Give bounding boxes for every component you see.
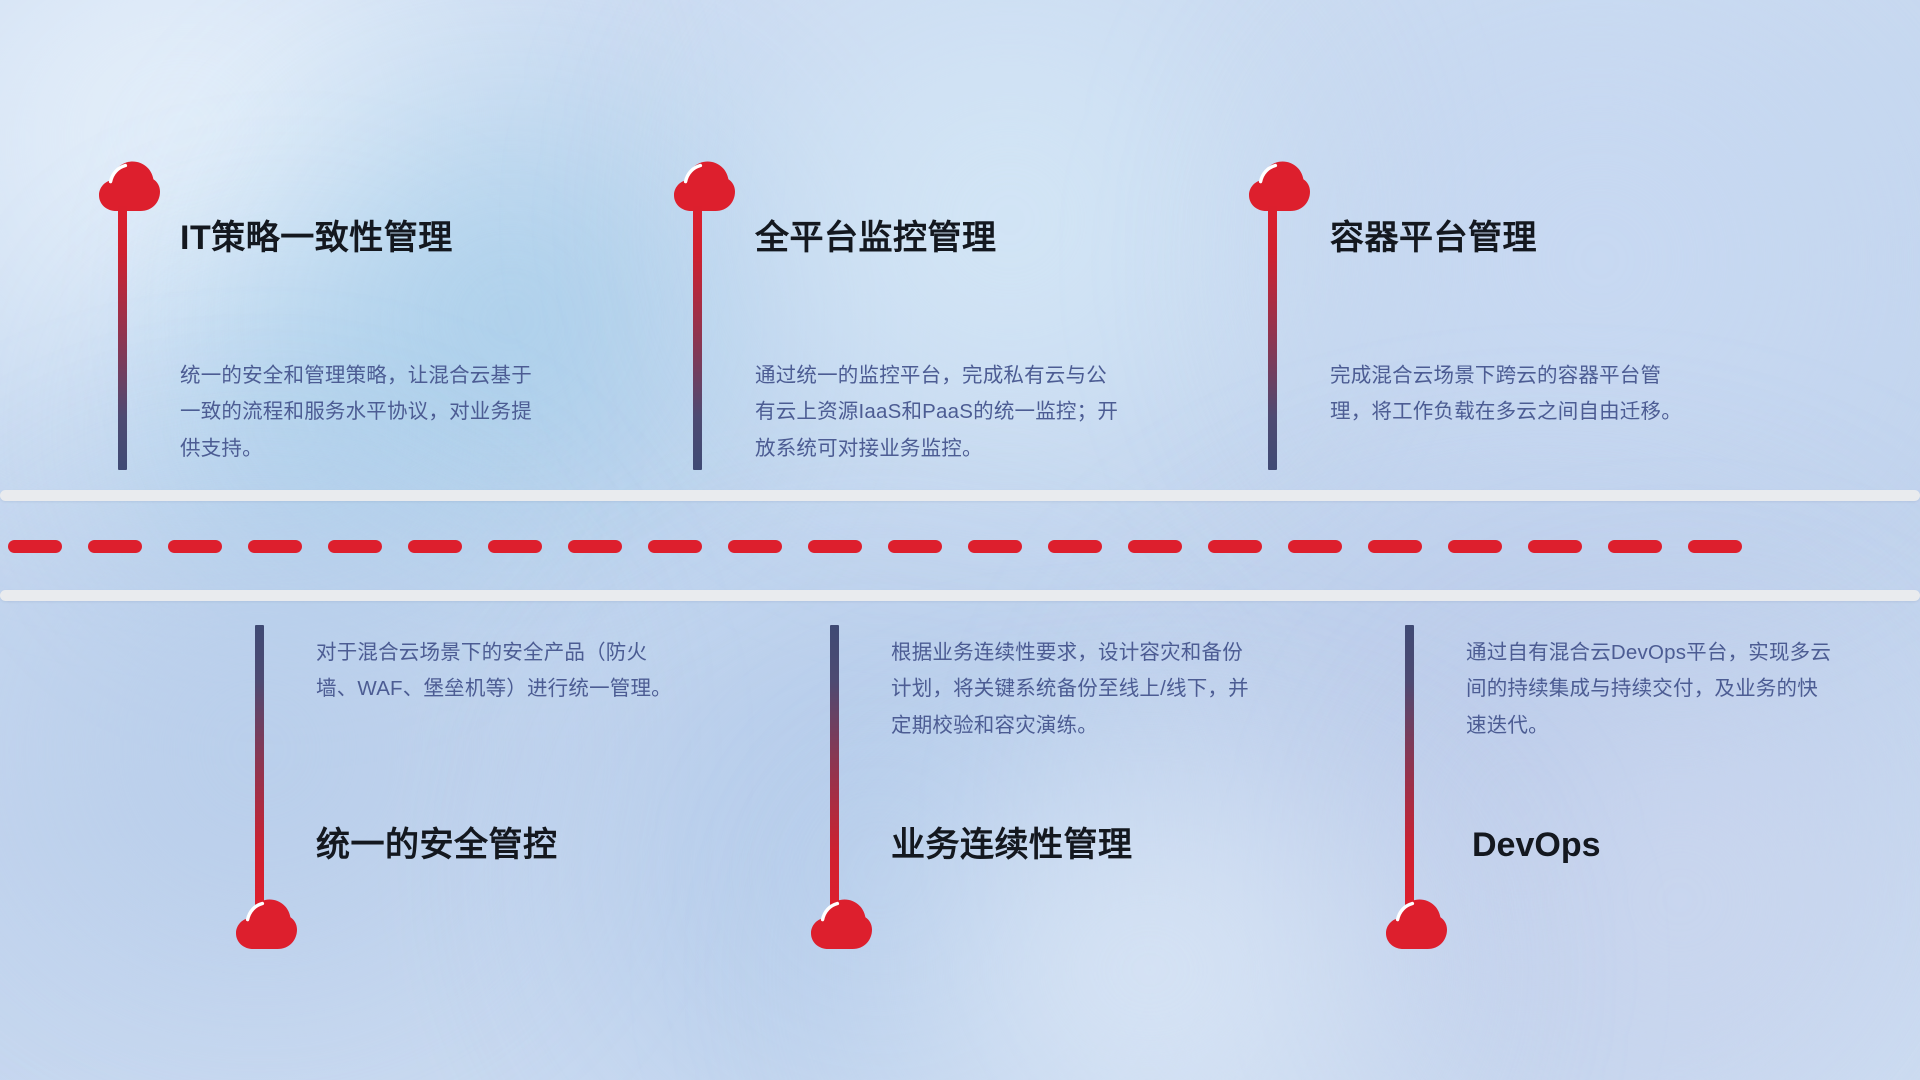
timeline-stem [118, 205, 127, 470]
divider-dash [1288, 540, 1342, 553]
divider-dash [488, 540, 542, 553]
divider-dash [1208, 540, 1262, 553]
divider-dash [1528, 540, 1582, 553]
divider-dash [1448, 540, 1502, 553]
bottom-column-2-body: 根据业务连续性要求，设计容灾和备份计划，将关键系统备份至线上/线下，并定期校验和… [891, 635, 1263, 744]
timeline-stem [1405, 625, 1414, 905]
bottom-column-2-heading: 业务连续性管理 [891, 825, 1133, 866]
divider-dash [888, 540, 942, 553]
divider-dash [1048, 540, 1102, 553]
divider-dash [1608, 540, 1662, 553]
divider-dash [728, 540, 782, 553]
divider-dash [248, 540, 302, 553]
divider-dash [1368, 540, 1422, 553]
top-column-1-heading: IT策略一致性管理 [180, 218, 453, 259]
divider-dash [648, 540, 702, 553]
divider-dash [1688, 540, 1742, 553]
divider-band [0, 490, 1920, 610]
bottom-column-3-body: 通过自有混合云DevOps平台，实现多云间的持续集成与持续交付，及业务的快速迭代… [1466, 635, 1838, 744]
divider-dash [408, 540, 462, 553]
cloud-icon [96, 160, 160, 212]
divider-dashed-red-line [0, 540, 1920, 553]
divider-dash [328, 540, 382, 553]
infographic-board: IT策略一致性管理 统一的安全和管理策略，让混合云基于一致的流程和服务水平协议，… [0, 0, 1920, 1080]
cloud-icon [1383, 898, 1447, 950]
divider-dash [1128, 540, 1182, 553]
timeline-stem [255, 625, 264, 905]
divider-dash [88, 540, 142, 553]
divider-dash [968, 540, 1022, 553]
bottom-column-1-body: 对于混合云场景下的安全产品（防火墙、WAF、堡垒机等）进行统一管理。 [316, 635, 688, 708]
bottom-column-1-heading: 统一的安全管控 [316, 825, 558, 866]
divider-dash [568, 540, 622, 553]
timeline-stem [830, 625, 839, 905]
cloud-icon [808, 898, 872, 950]
divider-rule-bottom [0, 590, 1920, 601]
cloud-icon [1246, 160, 1310, 212]
divider-rule-top [0, 490, 1920, 501]
cloud-icon [671, 160, 735, 212]
divider-dash [168, 540, 222, 553]
divider-dash [8, 540, 62, 553]
timeline-stem [693, 205, 702, 470]
top-column-1-body: 统一的安全和管理策略，让混合云基于一致的流程和服务水平协议，对业务提供支持。 [180, 358, 552, 467]
timeline-stem [1268, 205, 1277, 470]
divider-dash [808, 540, 862, 553]
top-column-3-body: 完成混合云场景下跨云的容器平台管理，将工作负载在多云之间自由迁移。 [1330, 358, 1702, 431]
top-column-2-body: 通过统一的监控平台，完成私有云与公有云上资源IaaS和PaaS的统一监控；开放系… [755, 358, 1127, 467]
cloud-icon [233, 898, 297, 950]
bottom-column-3-heading: DevOps [1472, 825, 1601, 866]
top-column-3-heading: 容器平台管理 [1330, 218, 1537, 259]
top-column-2-heading: 全平台监控管理 [755, 218, 997, 259]
